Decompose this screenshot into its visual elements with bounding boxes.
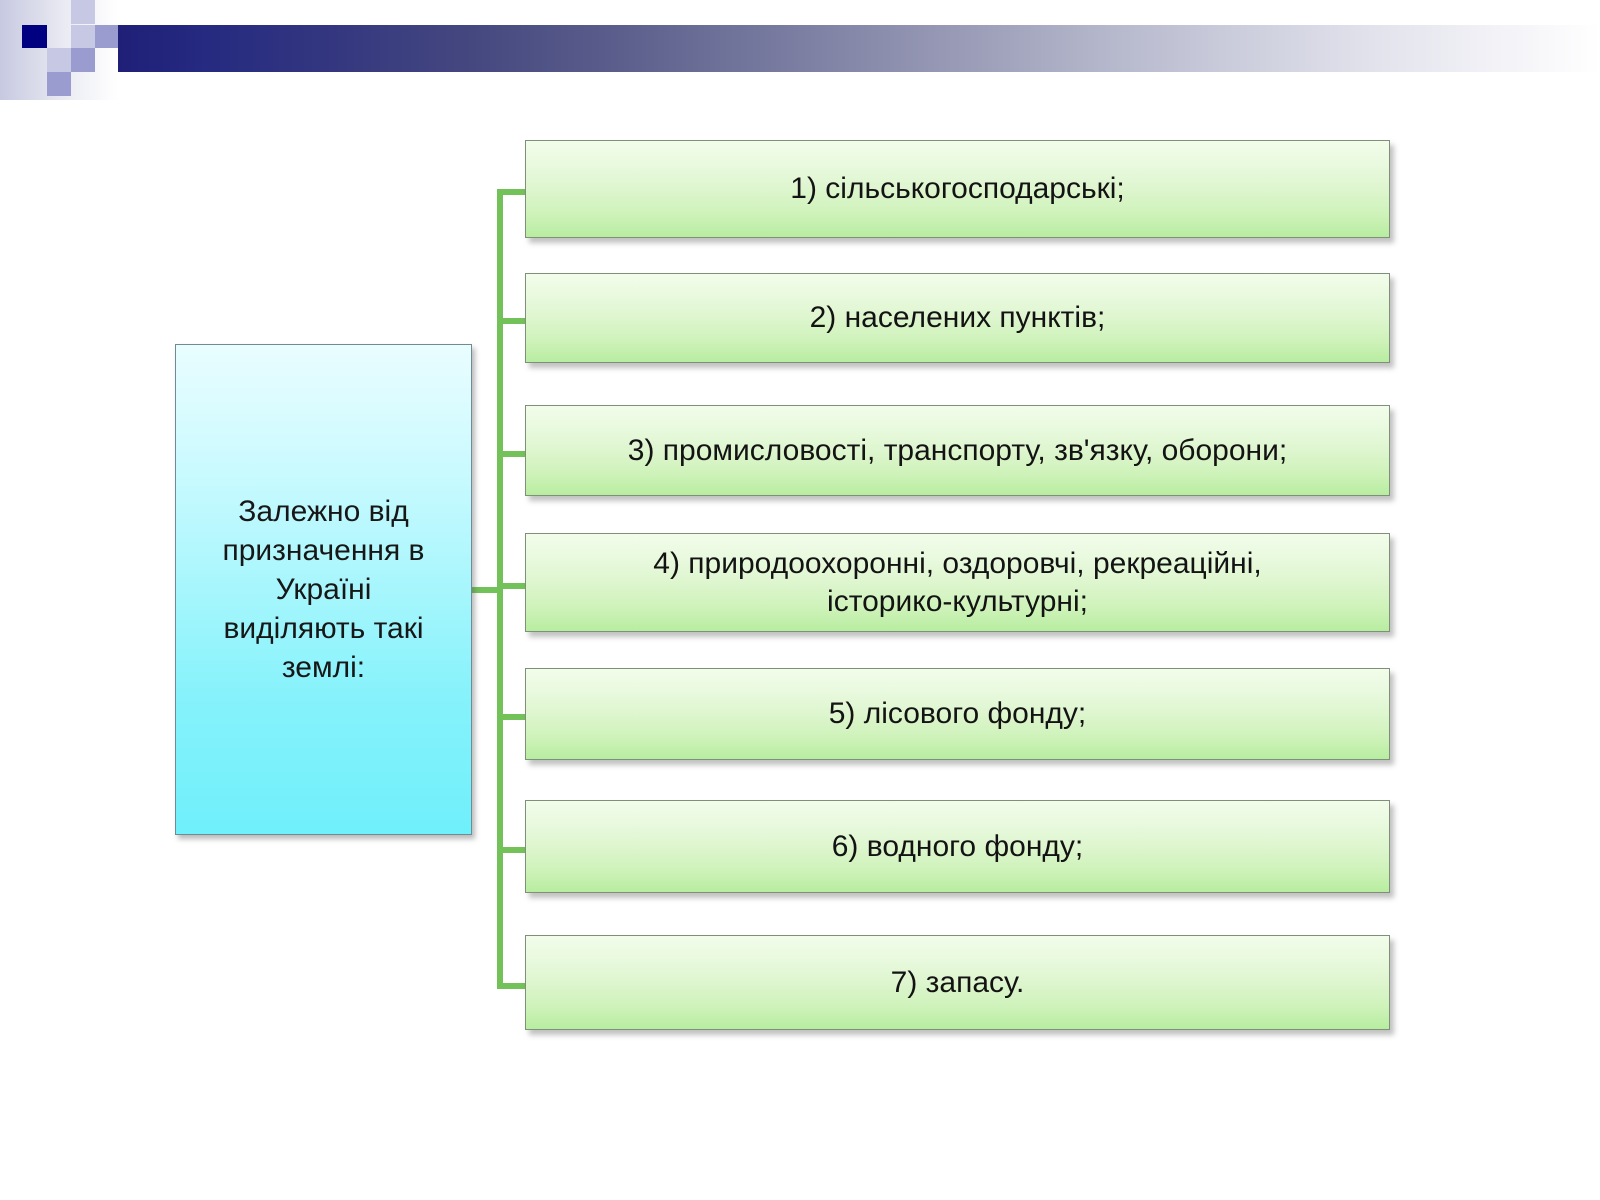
square-periwinkle-1 [95, 25, 118, 48]
branch-node-6[interactable]: 6) водного фонду; [525, 800, 1390, 893]
square-navy-solid [22, 25, 47, 48]
branch-node-label-2: 2) населених пунктів; [526, 299, 1389, 337]
square-lilac-2 [71, 25, 95, 48]
square-periwinkle-2 [71, 48, 95, 72]
square-periwinkle-3 [47, 72, 71, 96]
root-node-label: Залежно від призначення в Україні виділя… [176, 492, 471, 687]
square-lilac-3 [47, 48, 71, 72]
branch-node-label-6: 6) водного фонду; [526, 828, 1389, 866]
branch-node-label-3: 3) промисловості, транспорту, зв'язку, о… [526, 432, 1389, 470]
branch-node-4[interactable]: 4) природоохоронні, оздоровчі, рекреацій… [525, 533, 1390, 632]
branch-node-label-5: 5) лісового фонду; [526, 695, 1389, 733]
branch-node-label-4: 4) природоохоронні, оздоровчі, рекреацій… [526, 545, 1389, 621]
slide-canvas: Залежно від призначення в Україні виділя… [0, 0, 1600, 1200]
connector-root-stub [472, 587, 503, 593]
branch-node-label-7: 7) запасу. [526, 964, 1389, 1002]
header-gradient-bar [118, 25, 1600, 72]
branch-node-5[interactable]: 5) лісового фонду; [525, 668, 1390, 760]
branch-node-label-1: 1) сільськогосподарські; [526, 170, 1389, 208]
branch-node-7[interactable]: 7) запасу. [525, 935, 1390, 1030]
root-node[interactable]: Залежно від призначення в Україні виділя… [175, 344, 472, 835]
square-lilac-1 [71, 0, 95, 24]
branch-node-2[interactable]: 2) населених пунктів; [525, 273, 1390, 363]
branch-node-1[interactable]: 1) сільськогосподарські; [525, 140, 1390, 238]
branch-node-3[interactable]: 3) промисловості, транспорту, зв'язку, о… [525, 405, 1390, 496]
